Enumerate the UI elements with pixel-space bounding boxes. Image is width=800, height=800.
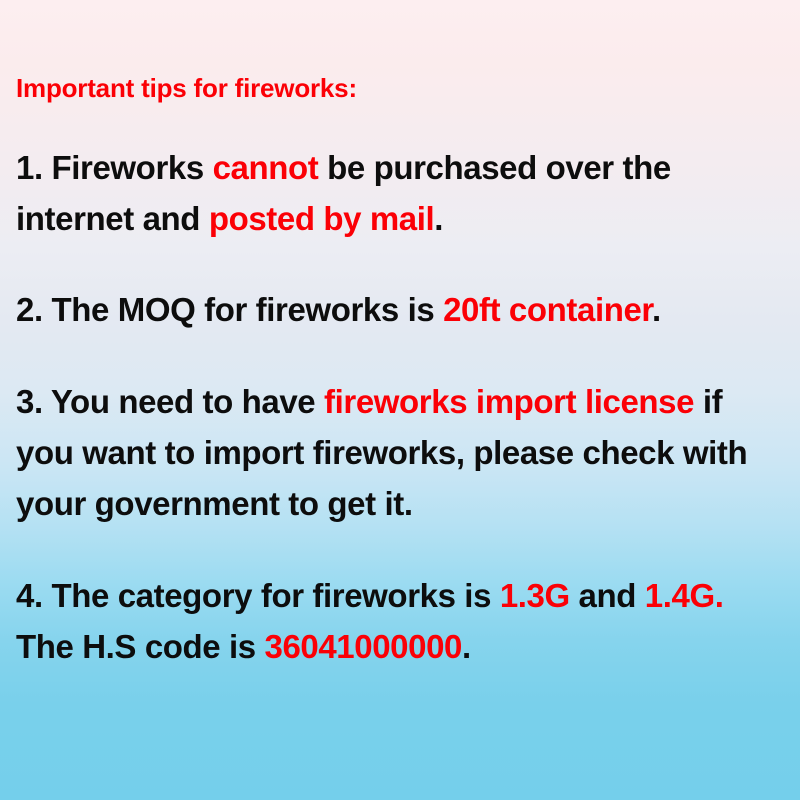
- tip-item-3: 3. You need to have fireworks import lic…: [16, 335, 784, 529]
- text-run: and: [570, 577, 645, 614]
- highlighted-phrase: 1.3G: [500, 577, 570, 614]
- tip-item-1: 1. Fireworks cannot be purchased over th…: [16, 104, 784, 244]
- tip-item-2: 2. The MOQ for fireworks is 20ft contain…: [16, 244, 784, 335]
- poster-title: Important tips for fireworks:: [16, 0, 784, 104]
- text-run: .: [434, 200, 443, 237]
- text-run: 4. The category for fireworks is: [16, 577, 500, 614]
- fireworks-tips-poster: Important tips for fireworks: 1. Firewor…: [0, 0, 800, 800]
- text-run: 3. You need to have: [16, 383, 324, 420]
- highlighted-phrase: cannot: [213, 149, 319, 186]
- highlighted-phrase: posted by mail: [209, 200, 434, 237]
- highlighted-phrase: 1.4G.: [645, 577, 724, 614]
- tip-item-4: 4. The category for fireworks is 1.3G an…: [16, 529, 784, 672]
- text-run: 2. The MOQ for fireworks is: [16, 291, 443, 328]
- highlighted-phrase: fireworks import license: [324, 383, 694, 420]
- text-run: .: [652, 291, 661, 328]
- highlighted-phrase: 20ft container: [443, 291, 652, 328]
- poster-content: Important tips for fireworks: 1. Firewor…: [16, 0, 784, 672]
- text-run: 1. Fireworks: [16, 149, 213, 186]
- highlighted-phrase: 36041000000: [265, 628, 462, 665]
- text-run: .: [462, 628, 471, 665]
